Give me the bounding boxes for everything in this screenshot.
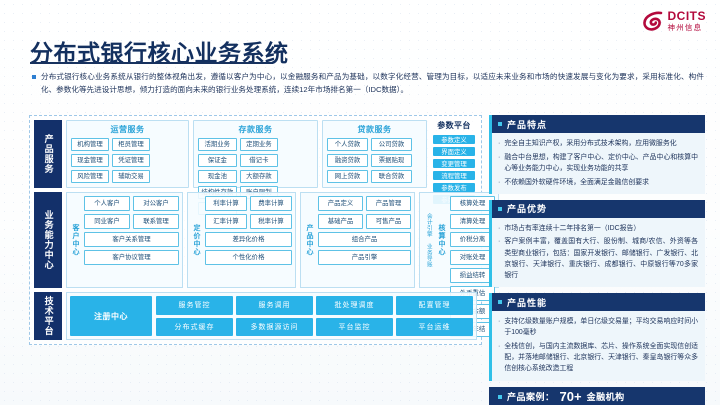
chip-dep-1[interactable]: 定期业务	[240, 138, 279, 151]
tech-chip-4[interactable]: 分布式缓存	[156, 318, 233, 337]
chip-price-4[interactable]: 差异化价格	[205, 232, 292, 247]
param-chip-2[interactable]: 变更管理	[433, 159, 475, 168]
list-item: · 全栈信创，与国内主流数据库、芯片、操作系统全面实现信创适配，并落地邮储银行、…	[498, 341, 698, 375]
tech-chip-2[interactable]: 批处理调度	[316, 296, 393, 315]
square-bullet-icon	[32, 75, 36, 79]
chip-prod-3[interactable]: 可售产品	[366, 214, 411, 229]
panel-header-product-performance: 产品性能	[489, 293, 705, 311]
panel-title-product-advantages: 产品优势	[507, 202, 547, 215]
logo-text-cn: 神州信息	[668, 24, 707, 32]
dcits-logo: DCITS 神州信息	[642, 10, 707, 32]
chip-dep-4[interactable]: 现金池	[198, 170, 237, 183]
band-tech-platform: 技术平台 注册中心 服务管控 服务调用 批处理调度 配置管理 分布式缓存 多数据…	[34, 292, 477, 340]
center-pricing: 定价中心 利率计算 费率计算 汇率计算 税率计算 差异化价格 个性化价格	[187, 192, 296, 288]
chip-ops-0[interactable]: 机构管理	[71, 138, 109, 151]
group-operation-services: 运营服务 机构管理 柜员管理 现金管理 凭证管理 风险管理 辅助交易	[66, 120, 189, 188]
chip-price-5[interactable]: 个性化价格	[205, 250, 292, 265]
dot-icon: ·	[498, 223, 500, 234]
group-deposit-services: 存款服务 活期业务 定期业务 保证金 借记卡 现金池 大额存款 结构性存款 账户…	[193, 120, 318, 188]
panel-header-product-features: 产品特点	[489, 115, 705, 133]
tech-chip-7[interactable]: 平台运维	[396, 318, 473, 337]
intro-paragraph: 分布式银行核心业务系统从银行的整体视角出发，遵循以客户为中心，以金融服务和产品为…	[32, 70, 704, 97]
panel-body-product-features: · 完全自主知识产权，采用分布式技术架构，应用微服务化 · 融合中台思想，构建了…	[489, 133, 705, 194]
param-chip-1[interactable]: 界面定义	[433, 147, 475, 156]
chip-prod-5[interactable]: 产品引擎	[318, 250, 411, 265]
chip-dep-2[interactable]: 保证金	[198, 154, 237, 167]
chip-price-2[interactable]: 汇率计算	[205, 214, 247, 229]
dot-icon: ·	[498, 152, 500, 174]
case-suffix: 金融机构	[587, 390, 625, 403]
group-title-deposit: 存款服务	[198, 124, 313, 135]
bullet-text: 客户案例丰富，覆盖国有大行、股份制、城商/农信、外资等各类型商业银行，包括：国家…	[504, 236, 698, 281]
list-item: · 不依赖国外软硬件环境，全面满足金融信创要求	[498, 177, 698, 188]
band-label-product-services: 产品服务	[34, 120, 62, 188]
square-bullet-icon	[498, 395, 502, 399]
case-number: 70+	[560, 389, 582, 404]
chip-cust-2[interactable]: 同业客户	[84, 214, 130, 229]
center-label-product: 产品中心	[304, 196, 315, 284]
panel-product-performance: 产品性能 · 支持亿级数量账户规模，单日亿级交易量；平均交易响应时间小于100毫…	[489, 293, 705, 380]
band-product-services: 产品服务 运营服务 机构管理 柜员管理 现金管理 凭证管理 风险管理 辅助交易	[34, 120, 477, 188]
bullet-text: 全栈信创，与国内主流数据库、芯片、操作系统全面实现信创适配，并落地邮储银行、北京…	[504, 341, 698, 375]
tech-register-center[interactable]: 注册中心	[70, 296, 152, 336]
chip-loan-0[interactable]: 个人贷款	[327, 138, 368, 151]
center-label-accounting: 核算中心	[436, 196, 447, 284]
chip-ops-2[interactable]: 现金管理	[71, 154, 109, 167]
chip-loan-4[interactable]: 网上贷款	[327, 170, 368, 183]
chip-ops-5[interactable]: 辅助交易	[112, 170, 150, 183]
group-title-operation: 运营服务	[71, 124, 184, 135]
square-bullet-icon	[498, 300, 502, 304]
tech-chip-0[interactable]: 服务管控	[156, 296, 233, 315]
slide-root: DCITS 神州信息 分布式银行核心业务系统 分布式银行核心业务系统从银行的整体…	[0, 0, 720, 405]
dot-icon: ·	[498, 236, 500, 281]
chip-cust-5[interactable]: 客户协议管理	[84, 250, 179, 265]
accent-bar	[489, 115, 492, 194]
panel-body-product-advantages: · 市场占有率连续十二年排名第一（IDC报告） · 客户案例丰富，覆盖国有大行、…	[489, 218, 705, 287]
bullet-text: 市场占有率连续十二年排名第一（IDC报告）	[504, 223, 640, 234]
group-title-loan: 贷款服务	[327, 124, 422, 135]
chip-loan-3[interactable]: 票据贴现	[371, 154, 412, 167]
chip-dep-5[interactable]: 大额存款	[240, 170, 279, 183]
param-chip-0[interactable]: 参数定义	[433, 135, 475, 144]
chip-loan-1[interactable]: 公司贷款	[371, 138, 412, 151]
intro-text: 分布式银行核心业务系统从银行的整体视角出发，遵循以客户为中心，以金融服务和产品为…	[41, 70, 704, 97]
tech-chip-1[interactable]: 服务调用	[236, 296, 313, 315]
case-bar: 产品案例： 70+ 金融机构	[489, 387, 705, 405]
panel-title-product-performance: 产品性能	[507, 296, 547, 309]
param-platform-column: 参数平台 参数定义 界面定义 变更管理 流程管理 参数发布 参数对比	[431, 120, 477, 188]
center-accounting: 会计引擎 业务导账 核算中心 核算处理 清算处理 价税分离 对账处理 损益结转 …	[419, 192, 499, 288]
panel-product-features: 产品特点 · 完全自主知识产权，采用分布式技术架构，应用微服务化 · 融合中台思…	[489, 115, 705, 194]
group-loan-services: 贷款服务 个人贷款 公司贷款 融资贷款 票据贴现 网上贷款 联合贷款	[322, 120, 427, 188]
panel-product-advantages: 产品优势 · 市场占有率连续十二年排名第一（IDC报告） · 客户案例丰富，覆盖…	[489, 200, 705, 287]
chip-prod-0[interactable]: 产品定义	[318, 196, 363, 211]
bullet-text: 融合中台思想，构建了客户中心、定价中心、产品中心和核算中心等业务能力中心，实现业…	[504, 152, 698, 174]
chip-cust-0[interactable]: 个人客户	[84, 196, 130, 211]
tech-chip-5[interactable]: 多数据源访问	[236, 318, 313, 337]
panel-header-product-advantages: 产品优势	[489, 200, 705, 218]
architecture-diagram: 产品服务 运营服务 机构管理 柜员管理 现金管理 凭证管理 风险管理 辅助交易	[29, 115, 482, 345]
chip-prod-1[interactable]: 产品管理	[366, 196, 411, 211]
bullet-text: 不依赖国外软硬件环境，全面满足金融信创要求	[504, 177, 649, 188]
chip-dep-3[interactable]: 借记卡	[240, 154, 279, 167]
chip-prod-4[interactable]: 组合产品	[318, 232, 411, 247]
title-underline	[30, 62, 273, 64]
panel-body-product-performance: · 支持亿级数量账户规模，单日亿级交易量；平均交易响应时间小于100毫秒 · 全…	[489, 311, 705, 380]
right-rail: 产品特点 · 完全自主知识产权，采用分布式技术架构，应用微服务化 · 融合中台思…	[489, 115, 705, 405]
panel-title-product-features: 产品特点	[507, 118, 547, 131]
list-item: · 融合中台思想，构建了客户中心、定价中心、产品中心和核算中心等业务能力中心，实…	[498, 152, 698, 174]
chip-cust-3[interactable]: 联系管理	[133, 214, 179, 229]
band-label-tech-platform: 技术平台	[34, 292, 62, 340]
center-label-customer: 客户中心	[70, 196, 81, 284]
logo-text-en: DCITS	[668, 10, 707, 22]
chip-prod-2[interactable]: 基础产品	[318, 214, 363, 229]
tech-platform-panel: 注册中心 服务管控 服务调用 批处理调度 配置管理 分布式缓存 多数据源访问 平…	[66, 292, 477, 340]
center-sublabel-accounting: 会计引擎 业务导账	[423, 196, 433, 284]
param-platform-title: 参数平台	[437, 120, 471, 131]
tech-chip-6[interactable]: 平台监控	[316, 318, 393, 337]
tech-chip-3[interactable]: 配置管理	[396, 296, 473, 315]
band-capability-centers: 业务能力中心 客户中心 个人客户 对公客户 同业客户 联系管理 客户关系管理 客…	[34, 192, 477, 288]
chip-price-3[interactable]: 税率计算	[250, 214, 292, 229]
chip-cust-4[interactable]: 客户关系管理	[84, 232, 179, 247]
list-item: · 客户案例丰富，覆盖国有大行、股份制、城商/农信、外资等各类型商业银行，包括：…	[498, 236, 698, 281]
chip-price-0[interactable]: 利率计算	[205, 196, 247, 211]
chip-loan-2[interactable]: 融资贷款	[327, 154, 368, 167]
list-item: · 完全自主知识产权，采用分布式技术架构，应用微服务化	[498, 138, 698, 149]
square-bullet-icon	[498, 207, 502, 211]
dot-icon: ·	[498, 177, 500, 188]
center-label-pricing: 定价中心	[191, 196, 202, 284]
logo-swoosh-icon	[642, 10, 664, 32]
accent-bar	[489, 293, 492, 380]
chip-dep-0[interactable]: 活期业务	[198, 138, 237, 151]
band-label-capability-centers: 业务能力中心	[34, 192, 62, 288]
chip-ops-3[interactable]: 凭证管理	[112, 154, 150, 167]
list-item: · 支持亿级数量账户规模，单日亿级交易量；平均交易响应时间小于100毫秒	[498, 316, 698, 338]
square-bullet-icon	[498, 122, 502, 126]
center-customer: 客户中心 个人客户 对公客户 同业客户 联系管理 客户关系管理 客户协议管理	[66, 192, 183, 288]
chip-ops-4[interactable]: 风险管理	[71, 170, 109, 183]
list-item: · 市场占有率连续十二年排名第一（IDC报告）	[498, 223, 698, 234]
dot-icon: ·	[498, 316, 500, 338]
param-chip-3[interactable]: 流程管理	[433, 171, 475, 180]
param-chip-4[interactable]: 参数发布	[433, 183, 475, 192]
dot-icon: ·	[498, 341, 500, 375]
chip-ops-1[interactable]: 柜员管理	[112, 138, 150, 151]
accent-bar	[489, 200, 492, 287]
bullet-text: 支持亿级数量账户规模，单日亿级交易量；平均交易响应时间小于100毫秒	[504, 316, 698, 338]
bullet-text: 完全自主知识产权，采用分布式技术架构，应用微服务化	[504, 138, 676, 149]
chip-price-1[interactable]: 费率计算	[250, 196, 292, 211]
chip-cust-1[interactable]: 对公客户	[133, 196, 179, 211]
dot-icon: ·	[498, 138, 500, 149]
chip-loan-5[interactable]: 联合贷款	[371, 170, 412, 183]
case-label: 产品案例：	[507, 390, 555, 403]
center-product: 产品中心 产品定义 产品管理 基础产品 可售产品 组合产品 产品引擎	[300, 192, 415, 288]
